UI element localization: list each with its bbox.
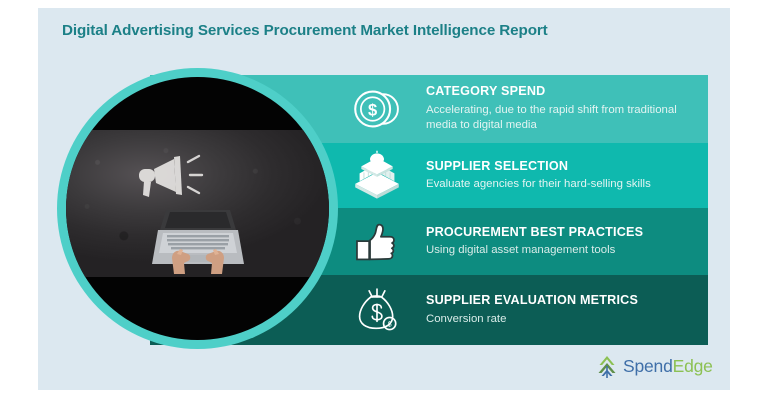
megaphone-illustration	[130, 152, 214, 200]
logo-text-edge: Edge	[673, 356, 713, 376]
spendedge-chevron-tree-icon	[594, 354, 620, 380]
hero-image-ring	[57, 68, 338, 349]
band-description: Accelerating, due to the rapid shift fro…	[426, 103, 700, 134]
band-description: Evaluate agencies for their hard-selling…	[426, 177, 700, 193]
band-title: PROCUREMENT BEST PRACTICES	[426, 224, 700, 240]
hero-image-circle	[66, 77, 329, 340]
spendedge-logo: SpendEdge	[594, 351, 726, 383]
money-bag-icon: $	[346, 279, 408, 341]
svg-text:$: $	[368, 101, 377, 120]
thumbs-up-icon	[346, 211, 408, 273]
logo-wordmark: SpendEdge	[623, 358, 713, 376]
band-description: Conversion rate	[426, 312, 700, 328]
band-text-block: PROCUREMENT BEST PRACTICES Using digital…	[426, 224, 700, 258]
band-title: SUPPLIER SELECTION	[426, 158, 700, 174]
hands-typing-laptop-megaphone-photo	[66, 130, 329, 277]
band-description: Using digital asset management tools	[426, 243, 700, 259]
band-text-block: SUPPLIER EVALUATION METRICS Conversion r…	[426, 293, 700, 327]
band-text-block: CATEGORY SPEND Accelerating, due to the …	[426, 84, 700, 134]
band-title: CATEGORY SPEND	[426, 84, 700, 100]
infographic-canvas: Digital Advertising Services Procurement…	[0, 0, 768, 401]
band-text-block: SUPPLIER SELECTION Evaluate agencies for…	[426, 158, 700, 192]
band-title: SUPPLIER EVALUATION METRICS	[426, 293, 700, 309]
svg-text:$: $	[388, 322, 392, 329]
bank-building-icon	[346, 145, 408, 207]
dollar-coins-icon: $	[346, 78, 408, 140]
page-title: Digital Advertising Services Procurement…	[62, 22, 662, 40]
laptop-with-hands-illustration	[144, 208, 252, 274]
logo-text-spend: Spend	[623, 356, 673, 376]
